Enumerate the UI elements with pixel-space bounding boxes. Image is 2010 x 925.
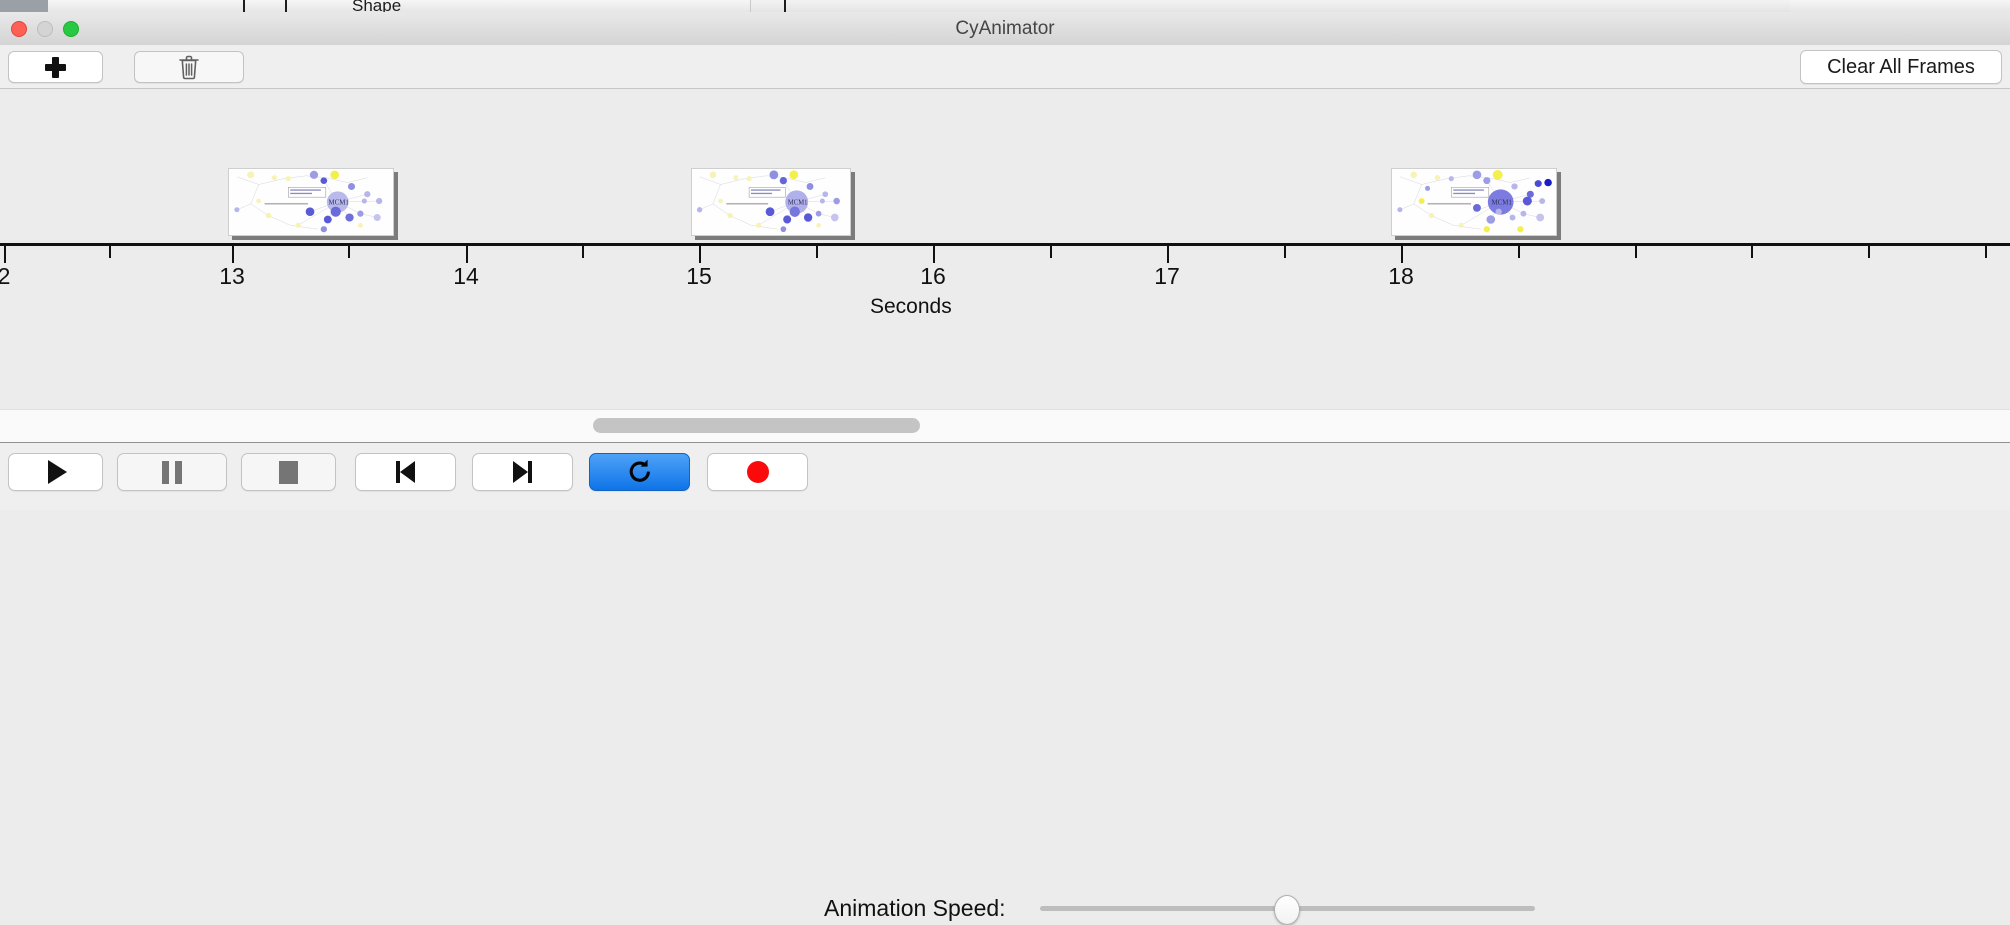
network-graph-icon: MCM1 (692, 169, 850, 235)
skip-back-icon (396, 461, 415, 483)
title-bar: CyAnimator (0, 12, 2010, 46)
svg-text:MCM1: MCM1 (1491, 199, 1512, 206)
timeline-frame-1[interactable]: MCM1 (228, 168, 394, 236)
axis-tick-label: 13 (192, 263, 272, 290)
axis-tick-major (4, 246, 6, 263)
plus-icon (45, 57, 66, 78)
bg-seg (1790, 0, 2010, 12)
bg-seg (370, 0, 631, 12)
cyanimator-window: Shape CyAnimator Clear All Frames (0, 0, 2010, 510)
axis-title: Seconds (870, 295, 952, 319)
axis-tick-minor (1050, 246, 1052, 258)
axis-tick-label: 15 (659, 263, 739, 290)
axis-tick-minor (1635, 246, 1637, 258)
animation-speed-label: Animation Speed: (824, 895, 1006, 922)
frame-thumbnail: MCM1 (228, 168, 394, 236)
svg-text:MCM1: MCM1 (328, 199, 349, 206)
stop-icon (279, 461, 298, 484)
axis-tick-minor (816, 246, 818, 258)
background-window-label: Shape (352, 0, 401, 12)
skip-to-end-button[interactable] (472, 453, 573, 491)
trash-icon (178, 54, 200, 80)
axis-tick-major (1167, 246, 1169, 263)
axis-tick-label: 18 (1361, 263, 1441, 290)
pause-icon (162, 461, 182, 484)
bg-dark-seg (0, 0, 48, 12)
bg-seg (630, 0, 751, 12)
background-window-strip: Shape (0, 0, 2010, 12)
axis-tick-minor (348, 246, 350, 258)
play-button[interactable] (8, 453, 103, 491)
svg-text:MCM1: MCM1 (788, 199, 808, 206)
toolbar: Clear All Frames (0, 45, 2010, 89)
axis-tick-minor (109, 246, 111, 258)
clear-all-frames-button[interactable]: Clear All Frames (1800, 50, 2002, 84)
axis-tick-major (699, 246, 701, 263)
loop-icon (626, 458, 654, 486)
stop-button[interactable] (241, 453, 336, 491)
axis-tick-label: 16 (893, 263, 973, 290)
axis-tick-major (232, 246, 234, 263)
axis-tick-major (933, 246, 935, 263)
timeline-axis (0, 243, 2010, 246)
timeline-frame-3[interactable]: MCM1 (1391, 168, 1557, 236)
axis-tick-minor (1518, 246, 1520, 258)
bg-tick (243, 0, 245, 12)
add-frame-button[interactable] (8, 51, 103, 83)
timeline-panel[interactable]: MCM1 (0, 89, 2010, 409)
frame-thumbnail: MCM1 (1391, 168, 1557, 236)
record-button[interactable] (707, 453, 808, 491)
pause-button[interactable] (117, 453, 227, 491)
loop-button[interactable] (589, 453, 690, 491)
bg-tick (285, 0, 287, 12)
frame-thumbnail: MCM1 (691, 168, 851, 236)
axis-tick-major (1401, 246, 1403, 263)
timeline-frame-2[interactable]: MCM1 (691, 168, 851, 236)
scrollbar-thumb[interactable] (593, 418, 920, 433)
bg-tick (784, 0, 786, 12)
skip-forward-icon (513, 461, 532, 483)
timeline-scrollbar[interactable] (0, 409, 2010, 444)
axis-tick-label: 14 (426, 263, 506, 290)
skip-to-start-button[interactable] (355, 453, 456, 491)
window-title: CyAnimator (0, 12, 2010, 45)
animation-speed-slider-knob[interactable] (1274, 895, 1300, 925)
axis-tick-minor (1284, 246, 1286, 258)
axis-tick-minor (1751, 246, 1753, 258)
axis-tick-minor (582, 246, 584, 258)
axis-tick-minor (1868, 246, 1870, 258)
network-graph-icon: MCM1 (229, 169, 393, 235)
bg-seg (48, 0, 187, 12)
delete-frame-button[interactable] (134, 51, 244, 83)
record-icon (747, 461, 769, 483)
axis-tick-label: 2 (0, 263, 44, 290)
axis-tick-major (466, 246, 468, 263)
axis-tick-label: 17 (1127, 263, 1207, 290)
axis-tick-minor (1985, 246, 1987, 258)
network-graph-icon: MCM1 (1392, 169, 1556, 235)
play-icon (48, 460, 67, 484)
clear-all-frames-label: Clear All Frames (1827, 56, 1975, 79)
transport-bar: Animation Speed: (0, 443, 2010, 510)
